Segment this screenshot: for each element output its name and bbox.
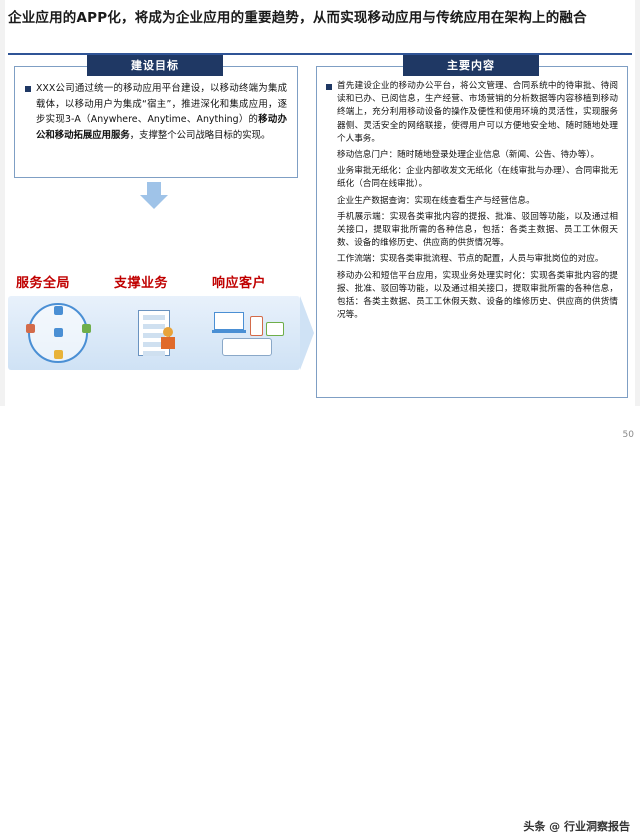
node-dot-icon (26, 324, 35, 333)
list-item-text: 企业生产数据查询：实现在线查看生产与经营信息。 (326, 195, 618, 208)
down-arrow-stem-icon (147, 182, 161, 196)
left-bullet-part1: XXX公司通过统一的移动应用平台建设，以移动终端为集成载体，以移动用户为集成“宿… (36, 83, 287, 125)
panel-left-tab: 建设目标 (87, 55, 223, 76)
list-item-text: 首先建设企业的移动办公平台，将公文管理、合同系统中的待审批、待阅读和已办、已阅信… (337, 80, 618, 146)
list-item-text: 业务审批无纸化：企业内部收发文无纸化（在线审批与办理）、合同审批无纸化（合同在线… (326, 165, 618, 191)
node-dot-icon (82, 324, 91, 333)
list-item-text: 手机展示端：实现各类审批内容的提报、批准、驳回等功能，以及通过相关接口，提取审批… (326, 211, 618, 251)
square-bullet-icon (326, 84, 332, 90)
right-edge-strip (635, 0, 640, 443)
panel-right-tab: 主要内容 (403, 55, 539, 76)
list-item: 首先建设企业的移动办公平台，将公文管理、合同系统中的待审批、待阅读和已办、已阅信… (326, 80, 618, 146)
square-bullet-icon (25, 86, 31, 92)
node-center-dot-icon (54, 328, 63, 337)
left-bullet-tail: ，支撑整个公司战略目标的实现。 (130, 130, 271, 141)
page-title: 企业应用的APP化，将成为企业应用的重要趋势，从而实现移动应用与传统应用在架构上… (8, 8, 632, 29)
laptop-icon (214, 312, 244, 332)
list-item: XXX公司通过统一的移动应用平台建设，以移动终端为集成载体，以移动用户为集成“宿… (25, 81, 287, 143)
panel-main-content: 主要内容 首先建设企业的移动办公平台，将公文管理、合同系统中的待审批、待阅读和已… (316, 66, 628, 398)
tablet-icon (266, 322, 284, 336)
panel-left-body: XXX公司通过统一的移动应用平台建设，以移动终端为集成载体，以移动用户为集成“宿… (15, 67, 297, 151)
banner-arrow-icon (300, 296, 314, 370)
heading-support-business: 支撑业务 (114, 272, 168, 291)
heading-group: 服务全局 支撑业务 响应客户 (14, 272, 298, 292)
list-item-text: 移动信息门户：随时随地登录处理企业信息（新闻、公告、待办等）。 (326, 149, 618, 162)
slide: 企业应用的APP化，将成为企业应用的重要趋势，从而实现移动应用与传统应用在架构上… (0, 0, 640, 443)
cloud-box-icon (222, 338, 272, 356)
node-dot-icon (54, 350, 63, 359)
page-number: 50 (623, 430, 634, 440)
heading-respond-customer: 响应客户 (212, 272, 266, 291)
person-icon (161, 327, 175, 349)
panel-construction-goal: 建设目标 XXX公司通过统一的移动应用平台建设，以移动终端为集成载体，以移动用户… (14, 66, 298, 178)
heading-service-global: 服务全局 (16, 272, 70, 291)
node-dot-icon (54, 306, 63, 315)
phone-icon (250, 316, 263, 336)
diagram-cell-server-person (110, 302, 198, 364)
footer: 头条 @ 行业洞察报告 (0, 406, 640, 443)
footer-watermark: 头条 @ 行业洞察报告 (523, 818, 630, 834)
list-item-text: 移动办公和短信平台应用，实现业务处理实时化：实现各类审批内容的提报、批准、驳回等… (326, 270, 618, 323)
page-title-text: 企业应用的APP化，将成为企业应用的重要趋势，从而实现移动应用与传统应用在架构上… (8, 8, 632, 29)
panel-right-body: 首先建设企业的移动办公平台，将公文管理、合同系统中的待审批、待阅读和已办、已阅信… (317, 67, 627, 331)
left-bullet-text: XXX公司通过统一的移动应用平台建设，以移动终端为集成载体，以移动用户为集成“宿… (36, 81, 287, 143)
down-arrow-head-icon (140, 195, 168, 209)
diagram-cell-devices (206, 302, 294, 364)
diagram-cell-network (14, 302, 102, 364)
list-item-text: 工作流端：实现各类审批流程、节点的配置，人员与审批岗位的对应。 (326, 253, 618, 266)
left-edge-strip (0, 0, 5, 443)
